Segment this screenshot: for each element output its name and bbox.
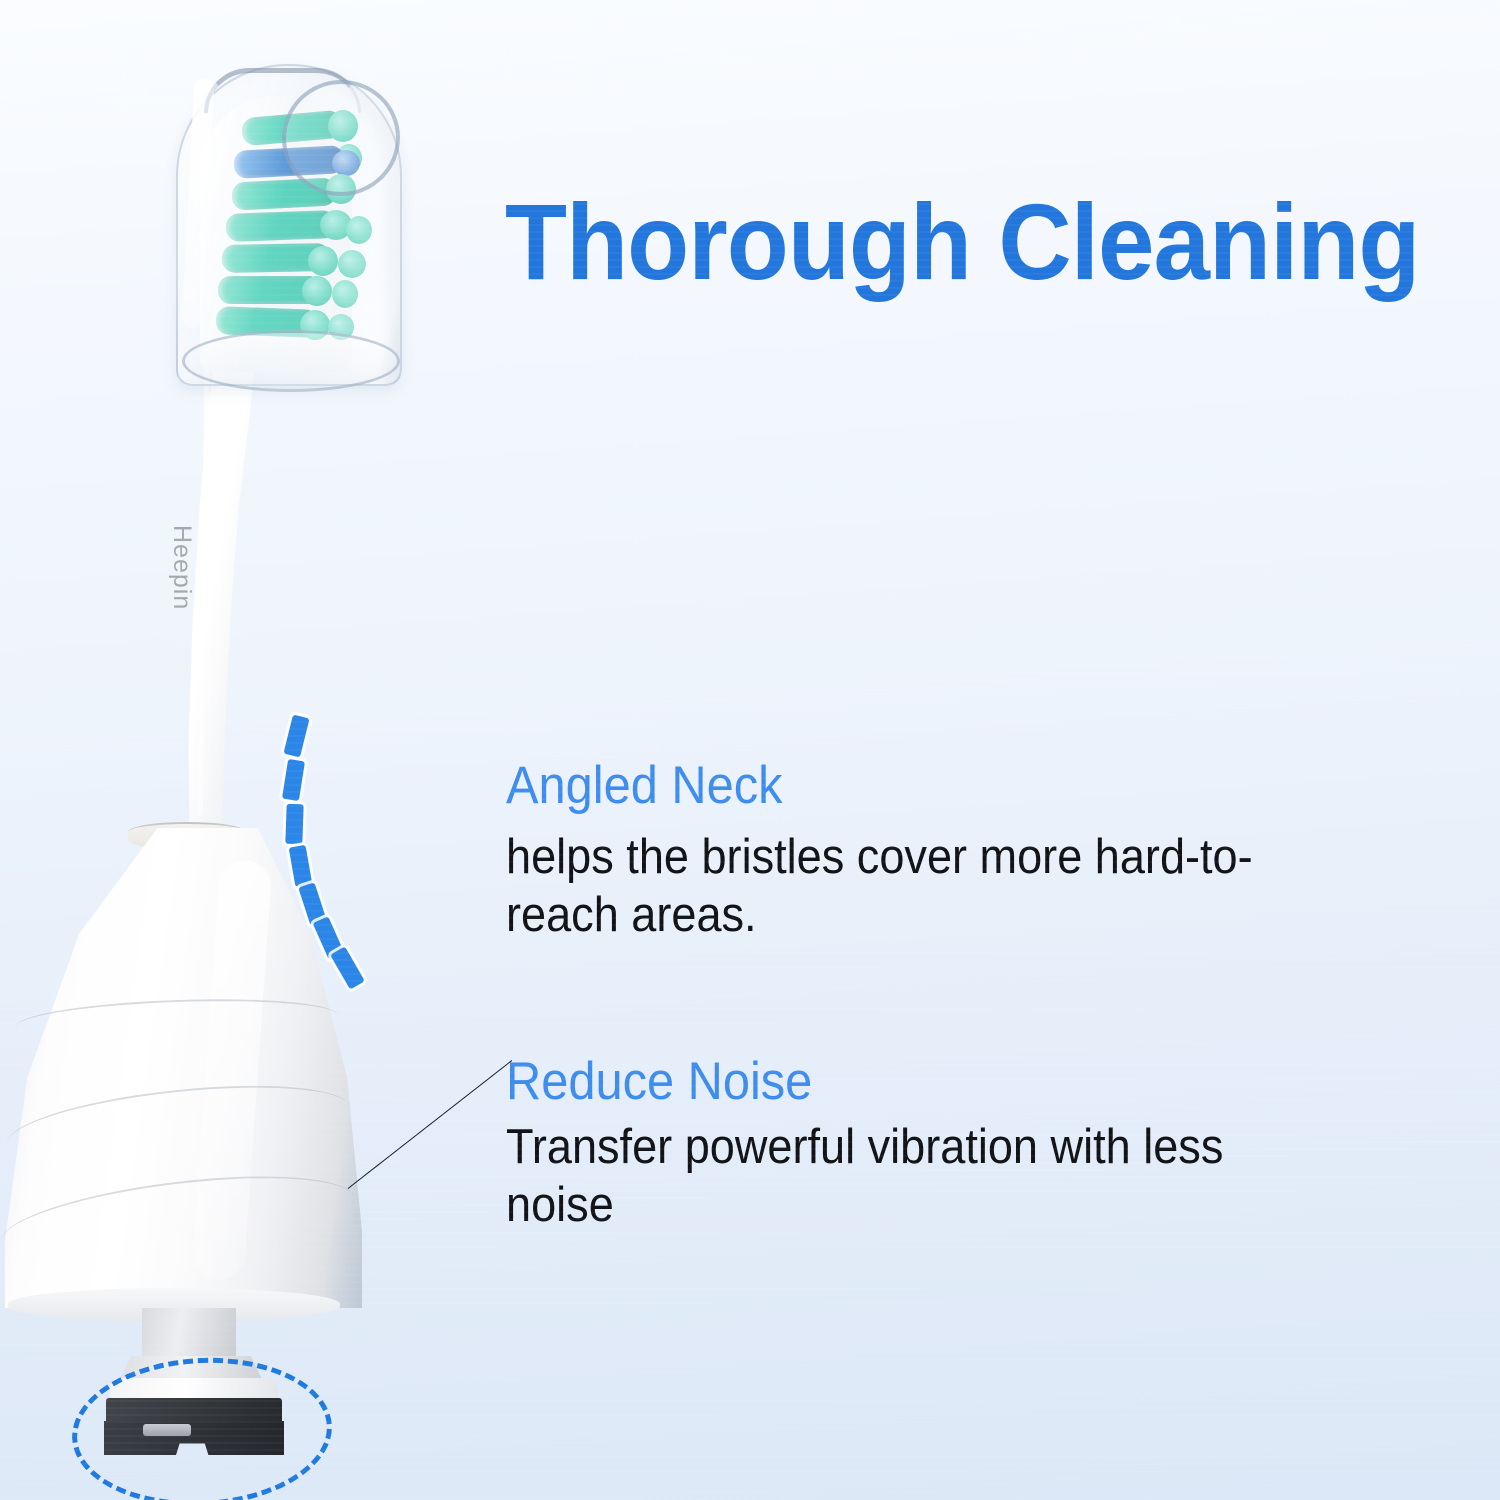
feature-reduce-noise: Reduce Noise Transfer powerful vibration… [506, 1053, 1326, 1234]
feature-heading: Reduce Noise [506, 1053, 1260, 1111]
product-illustration: Heepin [0, 0, 470, 1500]
angle-arc-dash-3 [285, 804, 303, 845]
infographic-canvas: Heepin [0, 0, 1500, 1500]
feature-body: Transfer powerful vibration with less no… [506, 1119, 1260, 1234]
brush-head [160, 62, 410, 392]
feature-angled-neck: Angled Neck helps the bristles cover mor… [506, 757, 1386, 944]
feature-body: helps the bristles cover more hard-to-re… [506, 829, 1316, 944]
page-title: Thorough Cleaning [505, 185, 1420, 298]
base-stem [142, 1308, 236, 1364]
feature-heading: Angled Neck [506, 757, 1316, 815]
cap-base-edge [182, 330, 400, 392]
brand-label: Heepin [167, 525, 196, 610]
